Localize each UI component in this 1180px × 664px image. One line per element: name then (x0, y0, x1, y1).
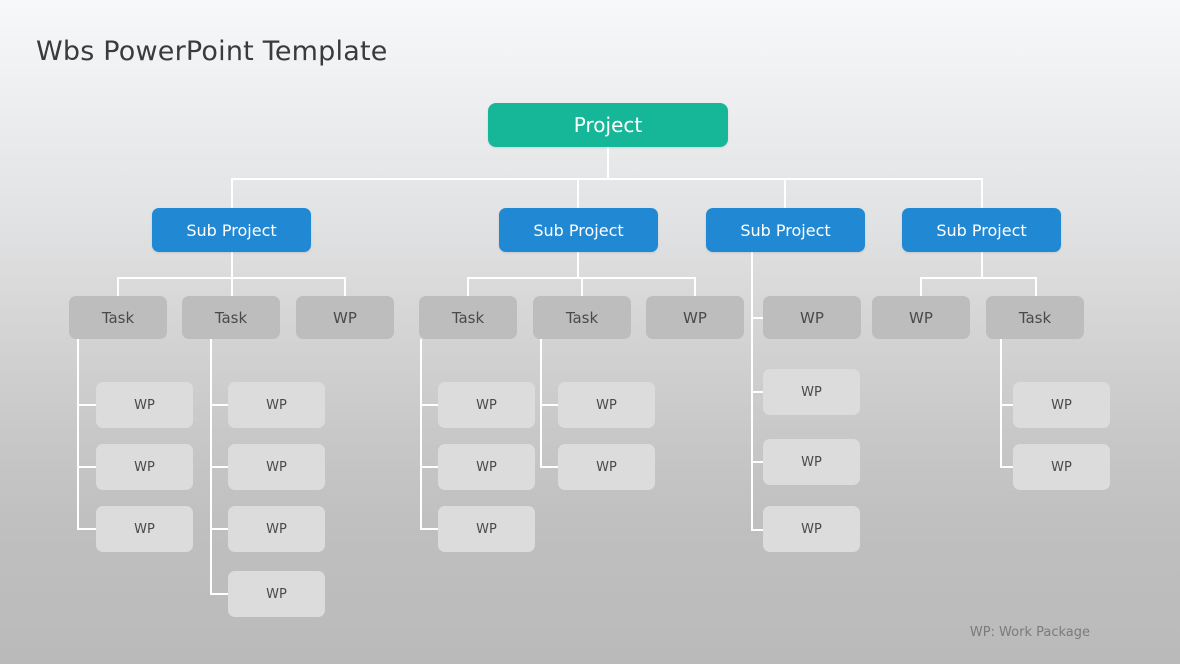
node-label: WP (134, 522, 155, 537)
node-label: Task (452, 309, 484, 327)
node-task-c2t1[interactable]: Task (419, 296, 517, 339)
node-work-package-c2t1w3[interactable]: WP (438, 506, 535, 552)
node-label: Project (574, 113, 642, 137)
connector-root-d3 (784, 178, 786, 209)
node-sub-project-sp3[interactable]: Sub Project (706, 208, 865, 252)
connector-c1t1-s3 (77, 528, 98, 530)
node-label: WP (596, 398, 617, 413)
connector-c2-stem (577, 252, 579, 279)
node-label: Task (102, 309, 134, 327)
node-label: WP (476, 460, 497, 475)
node-work-package-c2t2w2[interactable]: WP (558, 444, 655, 490)
node-work-package-c3w2[interactable]: WP (763, 369, 860, 415)
node-task-c4t1[interactable]: Task (986, 296, 1084, 339)
connector-c2t1-s2 (420, 466, 440, 468)
node-label: WP (596, 460, 617, 475)
node-label: WP (801, 522, 822, 537)
node-label: Sub Project (186, 221, 276, 240)
node-label: WP (266, 460, 287, 475)
node-work-package-c2t2w1[interactable]: WP (558, 382, 655, 428)
connector-root-d1 (231, 178, 233, 209)
node-work-package-c3w4[interactable]: WP (763, 506, 860, 552)
connector-root-d4 (981, 178, 983, 209)
node-label: WP (1051, 460, 1072, 475)
connector-c1t1-s1 (77, 404, 98, 406)
node-label: WP (1051, 398, 1072, 413)
connector-root-stem (607, 147, 609, 179)
node-project-root[interactable]: Project (488, 103, 728, 147)
node-task-c3w1[interactable]: WP (763, 296, 861, 339)
connector-root-d2 (577, 178, 579, 209)
node-task-c1w1[interactable]: WP (296, 296, 394, 339)
connector-c2-d1 (467, 277, 469, 297)
page-title: Wbs PowerPoint Template (36, 36, 388, 67)
node-work-package-c1t2w1[interactable]: WP (228, 382, 325, 428)
node-task-c2t2[interactable]: Task (533, 296, 631, 339)
connector-c2t2-s2 (540, 466, 560, 468)
node-label: WP (134, 460, 155, 475)
node-label: Sub Project (533, 221, 623, 240)
node-label: WP (909, 309, 933, 327)
node-work-package-c1t1w1[interactable]: WP (96, 382, 193, 428)
node-work-package-c3w3[interactable]: WP (763, 439, 860, 485)
connector-c1t2-s4 (210, 593, 230, 595)
node-label: WP (266, 587, 287, 602)
node-task-c4w1[interactable]: WP (872, 296, 970, 339)
connector-c2t1-s3 (420, 528, 440, 530)
connector-c1-stem (231, 252, 233, 279)
connector-c2-d2 (581, 277, 583, 297)
connector-c1t1-s2 (77, 466, 98, 468)
node-label: Sub Project (936, 221, 1026, 240)
node-work-package-c1t2w2[interactable]: WP (228, 444, 325, 490)
node-work-package-c1t1w3[interactable]: WP (96, 506, 193, 552)
connector-c1-d2 (231, 277, 233, 297)
connector-c2t1-s1 (420, 404, 440, 406)
node-work-package-c1t1w2[interactable]: WP (96, 444, 193, 490)
wbs-slide: Wbs PowerPoint Template ProjectSub Proje… (0, 0, 1180, 664)
node-work-package-c1t2w4[interactable]: WP (228, 571, 325, 617)
connector-c4-d2 (1035, 277, 1037, 297)
node-sub-project-sp1[interactable]: Sub Project (152, 208, 311, 252)
node-label: WP (333, 309, 357, 327)
node-label: WP (134, 398, 155, 413)
node-label: WP (800, 309, 824, 327)
node-label: WP (266, 398, 287, 413)
node-task-c2w1[interactable]: WP (646, 296, 744, 339)
node-label: WP (683, 309, 707, 327)
node-label: WP (801, 455, 822, 470)
connector-c4-bus (920, 277, 1037, 279)
connector-c2-d3 (694, 277, 696, 297)
connector-c1t2-s2 (210, 466, 230, 468)
node-work-package-c2t1w1[interactable]: WP (438, 382, 535, 428)
node-label: Task (1019, 309, 1051, 327)
node-work-package-c4t1w2[interactable]: WP (1013, 444, 1110, 490)
node-label: WP (801, 385, 822, 400)
connector-c1t2-s1 (210, 404, 230, 406)
node-label: Sub Project (740, 221, 830, 240)
connector-c1t2-s3 (210, 528, 230, 530)
connector-c4-stem (981, 252, 983, 279)
connector-c1-d1 (117, 277, 119, 297)
node-work-package-c4t1w1[interactable]: WP (1013, 382, 1110, 428)
node-task-c1t2[interactable]: Task (182, 296, 280, 339)
node-label: Task (566, 309, 598, 327)
connector-c2t2-s1 (540, 404, 560, 406)
connector-c1t1-spine (77, 339, 79, 530)
connector-c4-d1 (920, 277, 922, 297)
node-label: Task (215, 309, 247, 327)
node-sub-project-sp2[interactable]: Sub Project (499, 208, 658, 252)
node-sub-project-sp4[interactable]: Sub Project (902, 208, 1061, 252)
node-task-c1t1[interactable]: Task (69, 296, 167, 339)
node-label: WP (476, 398, 497, 413)
node-label: WP (266, 522, 287, 537)
connector-c2t1-spine (420, 339, 422, 530)
node-work-package-c2t1w2[interactable]: WP (438, 444, 535, 490)
connector-c1-d3 (344, 277, 346, 297)
legend-work-package: WP: Work Package (970, 625, 1090, 640)
node-work-package-c1t2w3[interactable]: WP (228, 506, 325, 552)
connector-root-bus (231, 178, 983, 180)
node-label: WP (476, 522, 497, 537)
